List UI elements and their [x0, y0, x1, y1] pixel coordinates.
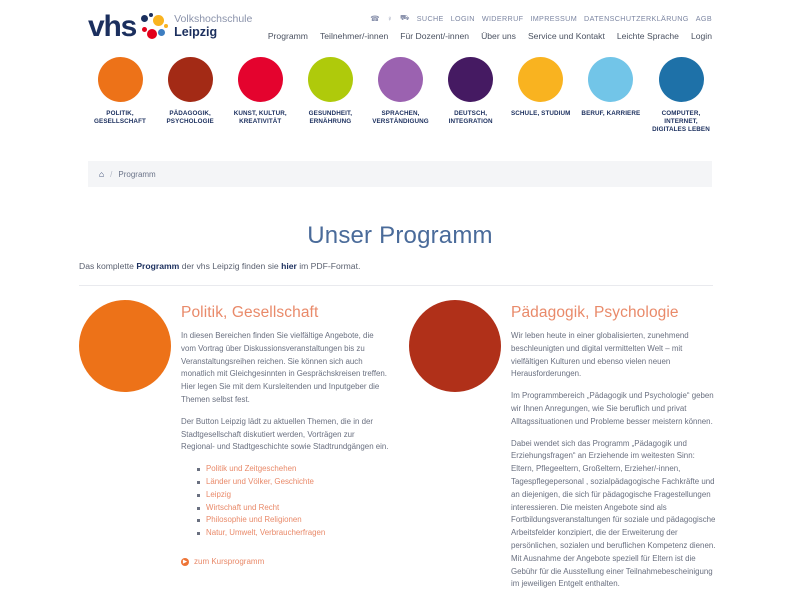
- intro-bold-programm: Programm: [136, 261, 179, 271]
- category-bubble-icon[interactable]: [308, 57, 353, 102]
- category-item[interactable]: PÄDAGOGIK,PSYCHOLOGIE: [158, 57, 222, 126]
- program-topic-link[interactable]: Natur, Umwelt, Verbraucherfragen: [206, 528, 325, 537]
- page-title: Unser Programm: [0, 222, 800, 250]
- category-label: SCHULE, STUDIUM: [511, 110, 571, 118]
- nav-item-dozenten[interactable]: Für Dozent/-innen: [400, 31, 469, 41]
- program-columns: Politik, GesellschaftIn diesen Bereichen…: [79, 300, 719, 600]
- nav-item-login[interactable]: Login: [691, 31, 712, 41]
- nav-item-teilnehmer[interactable]: Teilnehmer/-innen: [320, 31, 388, 41]
- breadcrumb: ⌂ / Programm: [88, 161, 712, 187]
- category-label: PÄDAGOGIK,PSYCHOLOGIE: [166, 110, 213, 126]
- program-column-body: Politik, GesellschaftIn diesen Bereichen…: [181, 300, 389, 600]
- category-label: BERUF, KARRIERE: [581, 110, 640, 118]
- category-bubble-icon[interactable]: [518, 57, 563, 102]
- category-label: SPRACHEN,VERSTÄNDIGUNG: [372, 110, 429, 126]
- nav-item-ueber-uns[interactable]: Über uns: [481, 31, 516, 41]
- category-bubble-icon[interactable]: [168, 57, 213, 102]
- category-item[interactable]: SPRACHEN,VERSTÄNDIGUNG: [369, 57, 433, 126]
- main-navigation: Programm Teilnehmer/-innen Für Dozent/-i…: [268, 31, 712, 41]
- program-paragraph: Der Button Leipzig lädt zu aktuellen The…: [181, 416, 389, 454]
- utility-bar: ☎ ♀ ⛟ SUCHE LOGIN WIDERRUF IMPRESSUM DAT…: [370, 13, 712, 23]
- utility-link-login[interactable]: LOGIN: [451, 14, 475, 23]
- program-paragraph: Dabei wendet sich das Programm „Pädagogi…: [511, 438, 719, 592]
- logo-line-1: Volkshochschule: [174, 13, 252, 25]
- category-item[interactable]: POLITIK,GESELLSCHAFT: [88, 57, 152, 126]
- program-paragraph: Wir leben heute in einer globalisierten,…: [511, 330, 719, 381]
- intro-before: Das komplette: [79, 261, 136, 271]
- shopping-cart-icon[interactable]: ⛟: [400, 13, 410, 23]
- intro-link-hier[interactable]: hier: [281, 261, 297, 271]
- utility-link-datenschutz[interactable]: DATENSCHUTZERKLÄRUNG: [584, 14, 689, 23]
- category-bubble-icon[interactable]: [588, 57, 633, 102]
- location-pin-icon[interactable]: ♀: [387, 14, 393, 23]
- program-more-link[interactable]: ▶zum Kursprogramm: [181, 557, 389, 566]
- logo-dots-icon: [140, 12, 170, 42]
- intro-after: im PDF-Format.: [297, 261, 361, 271]
- utility-link-suche[interactable]: SUCHE: [417, 14, 444, 23]
- category-item[interactable]: SCHULE, STUDIUM: [509, 57, 573, 118]
- list-item: Wirtschaft und Recht: [197, 502, 389, 515]
- logo-text: Volkshochschule Leipzig: [174, 13, 252, 41]
- program-topic-link[interactable]: Länder und Völker, Geschichte: [206, 477, 314, 486]
- utility-link-impressum[interactable]: IMPRESSUM: [530, 14, 577, 23]
- site-logo[interactable]: vhs Volkshochschule Leipzig: [88, 12, 252, 42]
- program-column: Pädagogik, PsychologieWir leben heute in…: [409, 300, 719, 600]
- category-label: DEUTSCH,INTEGRATION: [449, 110, 493, 126]
- list-item: Leipzig: [197, 489, 389, 502]
- category-item[interactable]: BERUF, KARRIERE: [579, 57, 643, 118]
- nav-item-leichte-sprache[interactable]: Leichte Sprache: [617, 31, 679, 41]
- category-item[interactable]: GESUNDHEIT,ERNÄHRUNG: [298, 57, 362, 126]
- category-label: KUNST, KULTUR,KREATIVITÄT: [234, 110, 287, 126]
- category-bubble-icon[interactable]: [659, 57, 704, 102]
- category-item[interactable]: DEUTSCH,INTEGRATION: [439, 57, 503, 126]
- arrow-right-circle-icon: ▶: [181, 558, 189, 566]
- program-paragraph: In diesen Bereichen finden Sie vielfälti…: [181, 330, 389, 407]
- home-icon[interactable]: ⌂: [99, 169, 104, 179]
- breadcrumb-item-programm[interactable]: Programm: [118, 170, 155, 179]
- nav-item-service[interactable]: Service und Kontakt: [528, 31, 605, 41]
- category-bubble-icon[interactable]: [98, 57, 143, 102]
- phone-icon[interactable]: ☎: [370, 14, 380, 23]
- program-heading: Pädagogik, Psychologie: [511, 304, 719, 321]
- program-topic-link[interactable]: Leipzig: [206, 490, 231, 499]
- utility-link-agb[interactable]: AGB: [696, 14, 712, 23]
- category-label: COMPUTER,INTERNET,DIGITALES LEBEN: [652, 110, 710, 134]
- program-paragraph: Im Programmbereich „Pädagogik und Psycho…: [511, 390, 719, 428]
- program-topic-link[interactable]: Philosophie und Religionen: [206, 515, 302, 524]
- category-bubble-icon[interactable]: [238, 57, 283, 102]
- category-item[interactable]: KUNST, KULTUR,KREATIVITÄT: [228, 57, 292, 126]
- program-circle-icon[interactable]: [409, 300, 501, 392]
- program-circle-icon[interactable]: [79, 300, 171, 392]
- list-item: Natur, Umwelt, Verbraucherfragen: [197, 527, 389, 540]
- intro-text: Das komplette Programm der vhs Leipzig f…: [79, 261, 360, 271]
- page-root: ☎ ♀ ⛟ SUCHE LOGIN WIDERRUF IMPRESSUM DAT…: [0, 0, 800, 600]
- program-topic-list: Politik und ZeitgeschehenLänder und Völk…: [197, 463, 389, 540]
- program-topic-link[interactable]: Politik und Zeitgeschehen: [206, 464, 296, 473]
- category-bubble-icon[interactable]: [378, 57, 423, 102]
- utility-link-widerruf[interactable]: WIDERRUF: [482, 14, 524, 23]
- program-column-body: Pädagogik, PsychologieWir leben heute in…: [511, 300, 719, 600]
- category-label: GESUNDHEIT,ERNÄHRUNG: [309, 110, 352, 126]
- intro-middle: der vhs Leipzig finden sie: [179, 261, 281, 271]
- category-item[interactable]: COMPUTER,INTERNET,DIGITALES LEBEN: [649, 57, 713, 134]
- logo-line-2: Leipzig: [174, 25, 252, 39]
- program-topic-link[interactable]: Wirtschaft und Recht: [206, 503, 279, 512]
- list-item: Länder und Völker, Geschichte: [197, 476, 389, 489]
- category-bar: POLITIK,GESELLSCHAFTPÄDAGOGIK,PSYCHOLOGI…: [88, 57, 713, 134]
- breadcrumb-separator: /: [110, 170, 112, 179]
- logo-wordmark: vhs: [88, 12, 136, 42]
- category-bubble-icon[interactable]: [448, 57, 493, 102]
- section-divider: [79, 285, 713, 286]
- list-item: Philosophie und Religionen: [197, 514, 389, 527]
- program-more-link-label: zum Kursprogramm: [194, 557, 264, 566]
- nav-item-programm[interactable]: Programm: [268, 31, 308, 41]
- list-item: Politik und Zeitgeschehen: [197, 463, 389, 476]
- category-label: POLITIK,GESELLSCHAFT: [94, 110, 146, 126]
- program-column: Politik, GesellschaftIn diesen Bereichen…: [79, 300, 389, 600]
- program-heading: Politik, Gesellschaft: [181, 304, 389, 321]
